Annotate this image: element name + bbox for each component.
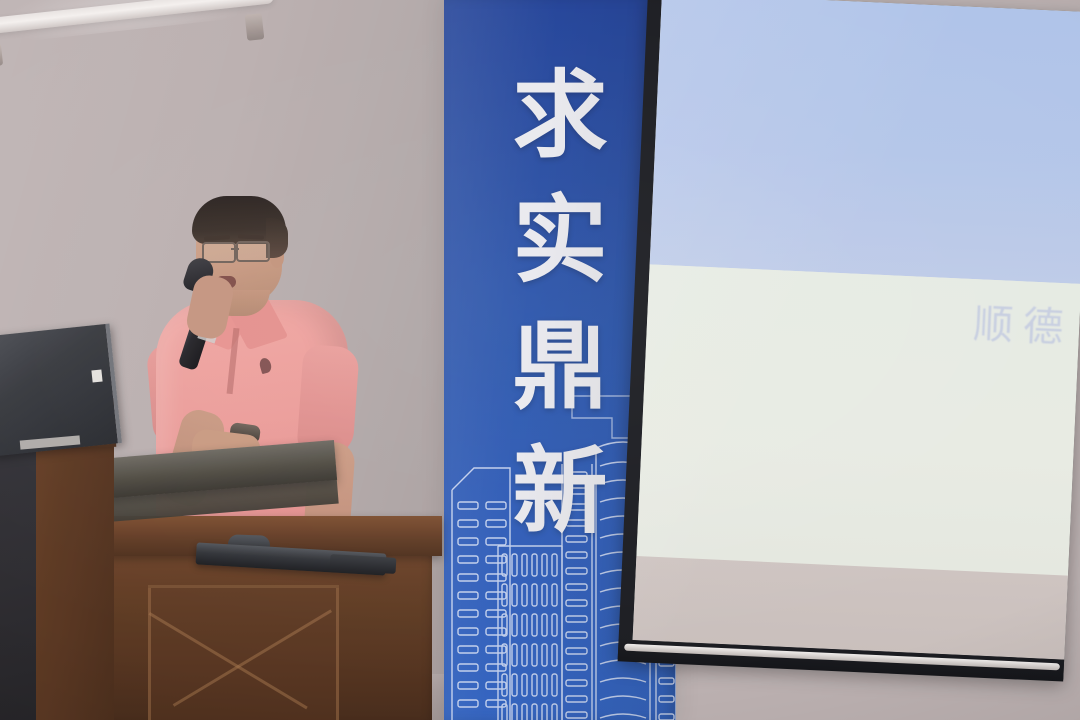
glasses-bridge xyxy=(231,248,239,250)
podium-front-panel xyxy=(148,585,339,720)
projector-screen: 顺德 xyxy=(617,0,1080,702)
glasses-lens-right xyxy=(236,241,270,262)
screen-glare xyxy=(633,0,1080,660)
photo-scene: 求 实 鼎 新 顺德 xyxy=(0,0,1080,720)
screen-surface: 顺德 xyxy=(633,0,1080,660)
monitor-bezel-mark xyxy=(91,370,102,383)
tube-end-cap-right xyxy=(245,13,265,41)
